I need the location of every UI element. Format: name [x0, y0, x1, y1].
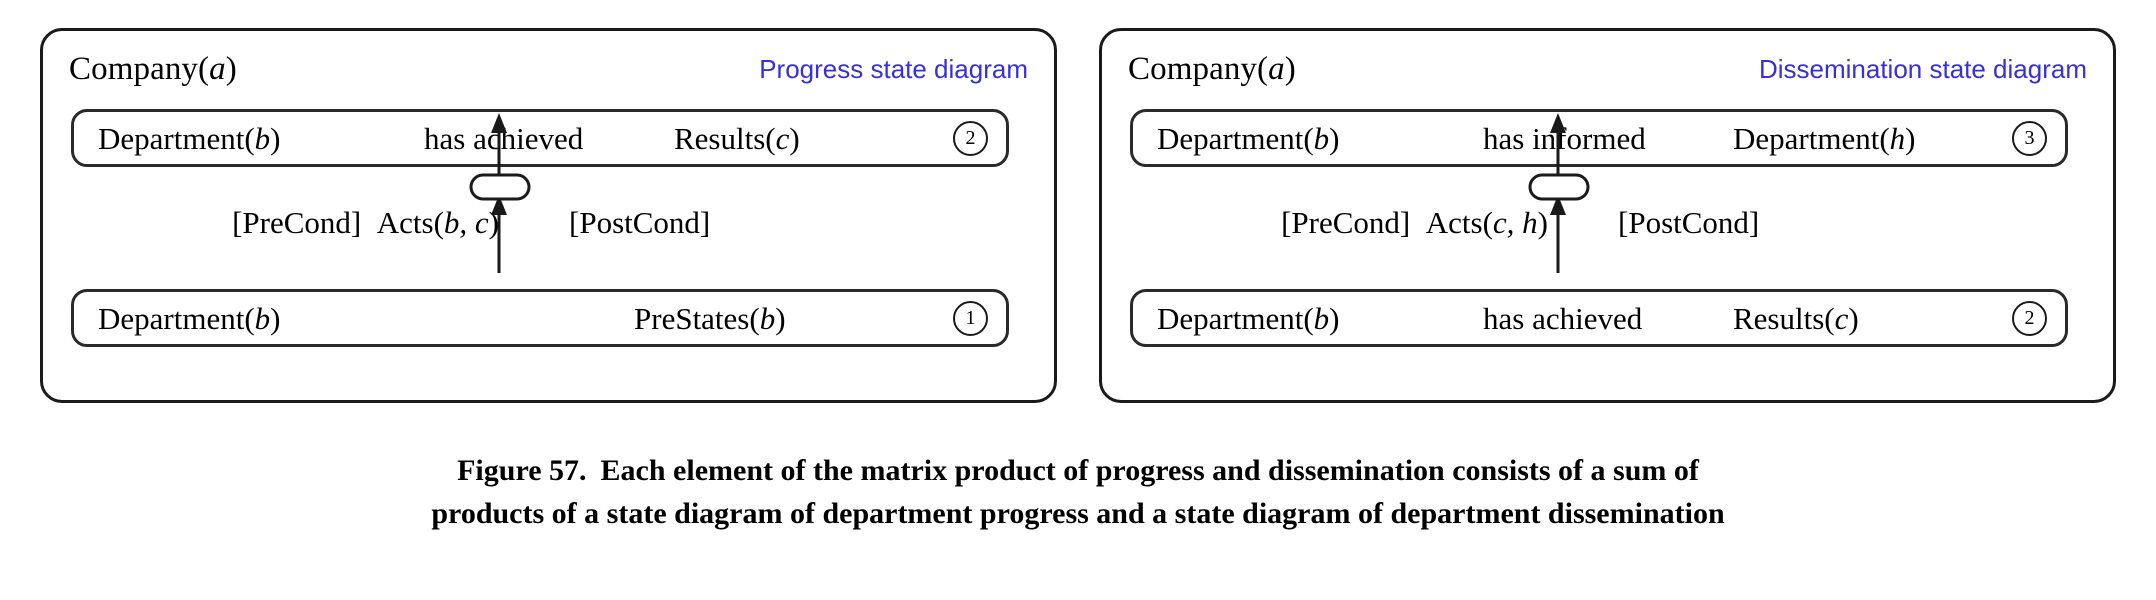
figure-caption-line1: Each element of the matrix product of pr…	[601, 454, 1699, 487]
transition-left: [PreCond] Acts(b, c) [PostCond]	[71, 181, 1009, 277]
panel-owner-label-left: Company(a)	[69, 53, 237, 86]
subject-text: Department(	[1157, 121, 1314, 156]
owner-text-left: Company(	[69, 51, 209, 87]
subject-var: b	[1314, 121, 1330, 156]
object-var: c	[776, 121, 790, 156]
state-badge-bottom-right: 2	[2012, 301, 2047, 336]
state-subject-top-right: Department(b)	[1157, 123, 1339, 154]
subject-text: Department(	[98, 121, 255, 156]
state-badge-top-left: 2	[953, 121, 988, 156]
owner-text-right: Company(	[1128, 51, 1268, 87]
precond-text: [PreCond]	[1281, 205, 1410, 240]
relation-text: Acts(	[1426, 205, 1493, 240]
state-object-bottom-right: Results(c)	[1733, 303, 1859, 334]
panel-owner-label-right: Company(a)	[1128, 53, 1296, 86]
subject-close: )	[270, 301, 280, 336]
state-badge-bottom-left: 1	[953, 301, 988, 336]
panel-progress: Company(a) Progress state diagram Depart…	[40, 28, 1057, 403]
owner-var-right: a	[1268, 51, 1285, 87]
state-subject-top-left: Department(b)	[98, 123, 280, 154]
panel-row: Company(a) Progress state diagram Depart…	[40, 28, 2116, 403]
object-var: b	[760, 301, 776, 336]
figure-caption: Figure 57.Each element of the matrix pro…	[0, 450, 2156, 535]
transition-precond-left: [PreCond] Acts(b, c)	[232, 207, 499, 238]
object-close: )	[1848, 301, 1858, 336]
transition-arrow-glyph-right	[1528, 109, 1648, 277]
object-close: )	[775, 301, 785, 336]
owner-close-right: )	[1285, 51, 1296, 87]
panel-title-progress: Progress state diagram	[759, 56, 1028, 82]
state-box-bottom-right: Department(b) has achieved Results(c) 2	[1130, 289, 2068, 347]
transition-precond-right: [PreCond] Acts(c, h)	[1281, 207, 1548, 238]
object-text: PreStates(	[634, 301, 760, 336]
subject-var: b	[1314, 301, 1330, 336]
relation-text: Acts(	[377, 205, 444, 240]
state-object-top-left: Results(c)	[674, 123, 800, 154]
transition-arrows-right	[1528, 109, 1648, 277]
subject-close: )	[270, 121, 280, 156]
transition-postcond-left: [PostCond]	[569, 207, 710, 238]
owner-close-left: )	[226, 51, 237, 87]
object-var: h	[1890, 121, 1906, 156]
state-object-top-right: Department(h)	[1733, 123, 1915, 154]
transition-arrow-glyph-left	[469, 109, 589, 277]
owner-var-left: a	[209, 51, 226, 87]
panel-header-dissemination: Company(a) Dissemination state diagram	[1102, 31, 2113, 97]
object-close: )	[1905, 121, 1915, 156]
object-text: Department(	[1733, 121, 1890, 156]
figure-caption-line2: products of a state diagram of departmen…	[431, 497, 1724, 530]
figure-57: Company(a) Progress state diagram Depart…	[0, 0, 2156, 600]
object-text: Results(	[674, 121, 776, 156]
state-subject-bottom-left: Department(b)	[98, 303, 280, 334]
subject-text: Department(	[98, 301, 255, 336]
state-verb-bottom-right: has achieved	[1483, 303, 1642, 334]
panel-dissemination: Company(a) Dissemination state diagram D…	[1099, 28, 2116, 403]
subject-var: b	[255, 301, 271, 336]
object-text: Results(	[1733, 301, 1835, 336]
subject-close: )	[1329, 121, 1339, 156]
object-close: )	[789, 121, 799, 156]
object-var: c	[1835, 301, 1849, 336]
transition-postcond-right: [PostCond]	[1618, 207, 1759, 238]
subject-var: b	[255, 121, 271, 156]
panel-header-progress: Company(a) Progress state diagram	[43, 31, 1054, 97]
state-badge-top-right: 3	[2012, 121, 2047, 156]
transition-arrows-left	[469, 109, 589, 277]
transition-right: [PreCond] Acts(c, h) [PostCond]	[1130, 181, 2068, 277]
figure-caption-label: Figure 57.	[457, 454, 586, 487]
precond-text: [PreCond]	[232, 205, 361, 240]
state-box-bottom-left: Department(b) PreStates(b) 1	[71, 289, 1009, 347]
state-subject-bottom-right: Department(b)	[1157, 303, 1339, 334]
state-object-bottom-left: PreStates(b)	[634, 303, 786, 334]
subject-close: )	[1329, 301, 1339, 336]
subject-text: Department(	[1157, 301, 1314, 336]
panel-title-dissemination: Dissemination state diagram	[1759, 56, 2087, 82]
